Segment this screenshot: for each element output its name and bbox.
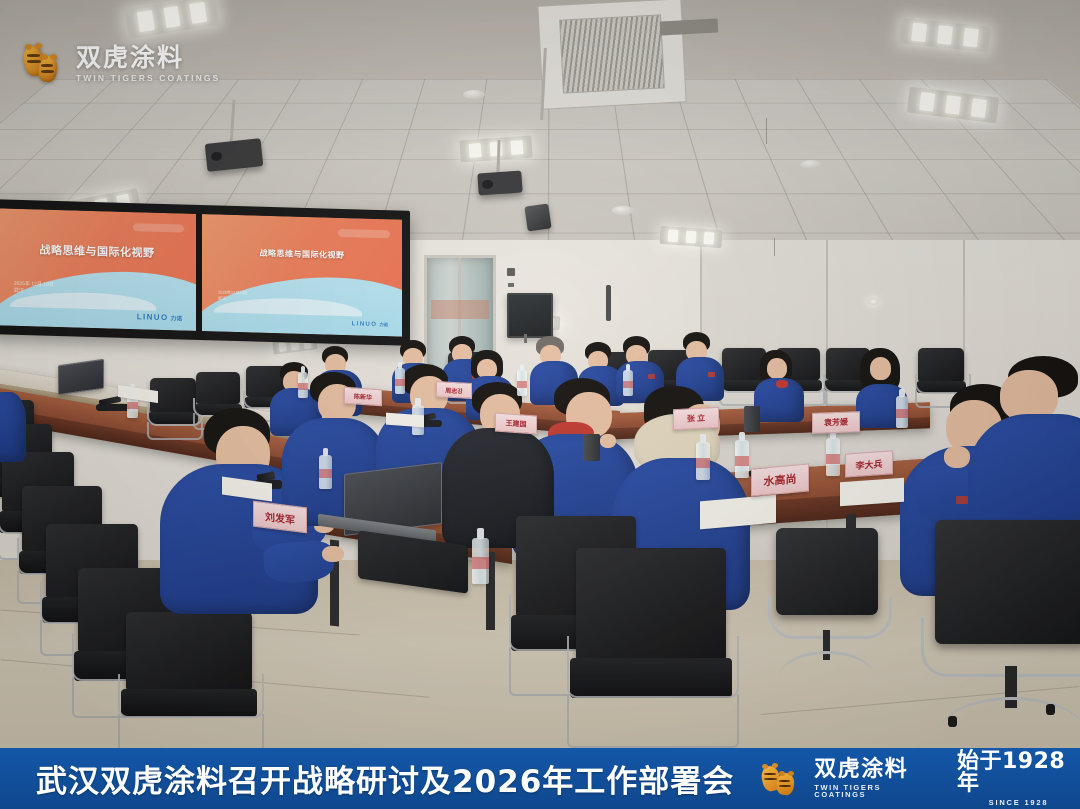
water-bottle	[623, 370, 633, 396]
watermark-wordmark: 双虎涂料 TWIN TIGERS COATINGS	[76, 45, 220, 83]
occupied-chair	[576, 548, 726, 748]
banner-brand-en: TWIN TIGERS COATINGS	[814, 784, 929, 799]
screenshot-root: 战略思维与国际化视野 2025年 12月 10日 武汉 LINUO力诺 战略思维…	[0, 0, 1080, 809]
name-placard: 李大兵	[845, 450, 893, 477]
slide-brand-en: LINUO	[352, 321, 378, 328]
banner-headline: 武汉双虎涂料召开战略研讨及2026年工作部署会	[36, 756, 734, 801]
empty-chair	[126, 612, 252, 748]
banner-wordmark: 双虎涂料 TWIN TIGERS COATINGS	[814, 759, 929, 799]
name-placard: 陈新华	[344, 387, 382, 407]
banner-since-cn: 始于1928年	[957, 751, 1080, 795]
banner-since-en: SINCE 1928	[957, 799, 1080, 807]
water-bottle	[517, 370, 527, 396]
thermos-cup	[744, 406, 760, 432]
occupied-exec-chair	[928, 520, 1080, 734]
name-placard: 袁芳媛	[812, 411, 860, 434]
water-bottle	[319, 455, 332, 489]
meeting-photo: 战略思维与国际化视野 2025年 12月 10日 武汉 LINUO力诺 战略思维…	[0, 0, 1080, 748]
water-bottle	[298, 372, 308, 398]
caption-banner: 武汉双虎涂料召开战略研讨及2026年工作部署会 双虎涂料 TWIN TIGERS…	[0, 748, 1080, 809]
projection-screen-surface: 战略思维与国际化视野 2025年 12月 10日 武汉 LINUO力诺 战略思维…	[0, 208, 402, 336]
slide-brand-cn: 力诺	[171, 316, 183, 322]
ceiling-ac-cassette	[537, 0, 686, 110]
slide-brand-cn: 力诺	[379, 322, 388, 327]
slide-title: 战略思维与国际化视野	[202, 246, 402, 263]
slide-location: 武汉	[14, 288, 54, 297]
banner-logo: 双虎涂料 TWIN TIGERS COATINGS	[760, 759, 929, 799]
ceiling-dome-speaker	[463, 90, 485, 99]
slide-right: 战略思维与国际化视野 2025年12月10日 武汉 LINUO力诺	[202, 214, 402, 337]
projector-lens	[482, 179, 494, 189]
empty-exec-chair	[772, 528, 882, 678]
water-bottle	[735, 440, 749, 478]
wall-monitor	[507, 293, 553, 338]
slide-brand: LINUO力诺	[352, 321, 388, 328]
slide-corner-tag	[133, 223, 184, 233]
slide-location: 武汉	[218, 295, 248, 302]
name-placard: 张 立	[673, 407, 719, 430]
ceiling-projector	[477, 170, 522, 195]
wall-fixture-strip	[606, 285, 611, 321]
water-bottle	[696, 442, 710, 480]
desk-microphone	[96, 404, 130, 411]
water-bottle	[472, 538, 489, 584]
door-glass-reflection	[431, 300, 489, 319]
watermark-brand-cn: 双虎涂料	[76, 45, 220, 70]
twin-tigers-icon	[760, 762, 805, 796]
name-placard: 周志강	[436, 381, 472, 399]
slide-title: 战略思维与国际化视野	[0, 240, 196, 262]
ceiling-dome-speaker	[800, 160, 822, 169]
chair-caster	[948, 716, 957, 727]
banner-since: 始于1928年 SINCE 1928	[957, 751, 1080, 807]
projector-lens	[211, 151, 223, 161]
projection-screen: 战略思维与国际化视野 2025年 12月 10日 武汉 LINUO力诺 战略思维…	[0, 199, 410, 346]
banner-brand-cn: 双虎涂料	[814, 759, 929, 781]
slide-brand: LINUO力诺	[137, 312, 182, 322]
ceiling-projector	[205, 138, 264, 172]
wall-sensor-icon	[508, 283, 514, 287]
watermark-brand-en: TWIN TIGERS COATINGS	[76, 74, 220, 83]
wall-monitor-bracket	[524, 334, 527, 343]
slide-meta: 2025年 12月 10日 武汉	[14, 280, 54, 296]
notepad	[840, 478, 904, 506]
name-placard: 水高尚	[751, 463, 809, 496]
twin-tigers-icon	[22, 42, 68, 86]
wall-speaker	[524, 203, 551, 231]
slide-left: 战略思维与国际化视野 2025年 12月 10日 武汉 LINUO力诺	[0, 208, 196, 331]
ceiling-wire	[774, 238, 775, 256]
slide-corner-tag	[338, 228, 390, 238]
watermark-logo: 双虎涂料 TWIN TIGERS COATINGS	[22, 42, 220, 86]
ceiling-downlight	[868, 298, 879, 305]
water-bottle	[896, 396, 908, 428]
thermos-cup	[583, 434, 600, 461]
ceiling-wire	[766, 118, 767, 144]
chair-caster	[1046, 704, 1055, 715]
name-placard: 王建国	[495, 413, 537, 435]
empty-chair	[150, 378, 196, 440]
ceiling-dome-speaker	[612, 206, 634, 215]
notepad	[386, 413, 424, 428]
water-bottle	[395, 368, 405, 394]
wall-sensor-icon	[507, 268, 515, 276]
water-bottle	[826, 438, 840, 476]
slide-brand-en: LINUO	[137, 312, 169, 322]
slide-meta: 2025年12月10日 武汉	[218, 289, 248, 302]
